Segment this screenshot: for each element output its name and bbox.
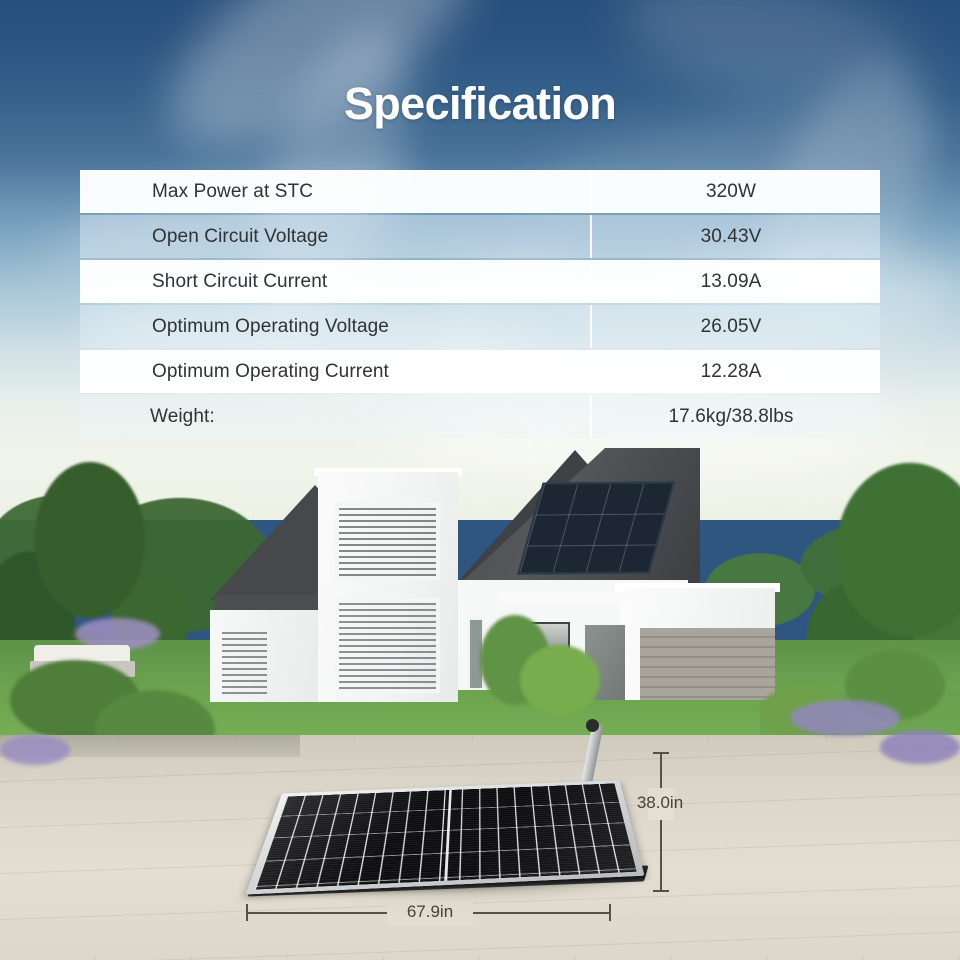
panel-hinge-upper bbox=[586, 719, 599, 732]
table-row: Optimum Operating Current12.28A bbox=[80, 350, 880, 393]
spec-value: 13.09A bbox=[590, 271, 880, 293]
spec-value: 12.28A bbox=[590, 361, 880, 383]
specification-table: Max Power at STC320WOpen Circuit Voltage… bbox=[80, 170, 880, 440]
width-dimension-cap-right bbox=[609, 904, 611, 921]
table-row: Open Circuit Voltage30.43V bbox=[80, 215, 880, 258]
spec-label: Open Circuit Voltage bbox=[80, 226, 590, 248]
spec-label: Weight: bbox=[80, 406, 590, 428]
column-divider bbox=[590, 350, 592, 393]
spec-label: Optimum Operating Current bbox=[80, 361, 590, 383]
height-dimension-cap-top bbox=[653, 752, 669, 754]
table-row: Short Circuit Current13.09A bbox=[80, 260, 880, 303]
column-divider bbox=[590, 170, 592, 213]
house-illustration bbox=[200, 440, 770, 730]
column-divider bbox=[590, 395, 592, 438]
lavender-flowers bbox=[0, 735, 70, 765]
table-row: Max Power at STC320W bbox=[80, 170, 880, 213]
width-dimension-label: 67.9in bbox=[367, 902, 493, 922]
height-dimension-cap-bottom bbox=[653, 890, 669, 892]
garage-door bbox=[640, 628, 775, 700]
spec-label: Max Power at STC bbox=[80, 181, 590, 203]
spec-label: Optimum Operating Voltage bbox=[80, 316, 590, 338]
lavender-flowers bbox=[880, 730, 960, 764]
background-scene: 38.0in 67.9in bbox=[0, 0, 960, 960]
column-divider bbox=[590, 305, 592, 348]
height-dimension-label: 38.0in bbox=[600, 793, 720, 813]
rooftop-solar-array bbox=[517, 481, 675, 574]
column-divider bbox=[590, 260, 592, 303]
height-dimension-line bbox=[660, 752, 662, 892]
spec-label: Short Circuit Current bbox=[80, 271, 590, 293]
lower-window bbox=[335, 598, 440, 693]
page-title: Specification bbox=[0, 78, 960, 130]
table-row: Weight:17.6kg/38.8lbs bbox=[80, 395, 880, 438]
lavender-flowers bbox=[790, 700, 900, 736]
spec-value: 320W bbox=[590, 181, 880, 203]
spec-value: 17.6kg/38.8lbs bbox=[590, 406, 880, 428]
panel-frame bbox=[246, 780, 645, 895]
panel-face bbox=[246, 780, 645, 895]
entry-canopy bbox=[500, 592, 640, 602]
spec-value: 30.43V bbox=[590, 226, 880, 248]
upper-window bbox=[335, 502, 440, 580]
column-divider bbox=[590, 215, 592, 258]
table-row: Optimum Operating Voltage26.05V bbox=[80, 305, 880, 348]
annex-window bbox=[222, 630, 267, 694]
width-dimension-cap-left bbox=[246, 904, 248, 921]
spec-value: 26.05V bbox=[590, 316, 880, 338]
